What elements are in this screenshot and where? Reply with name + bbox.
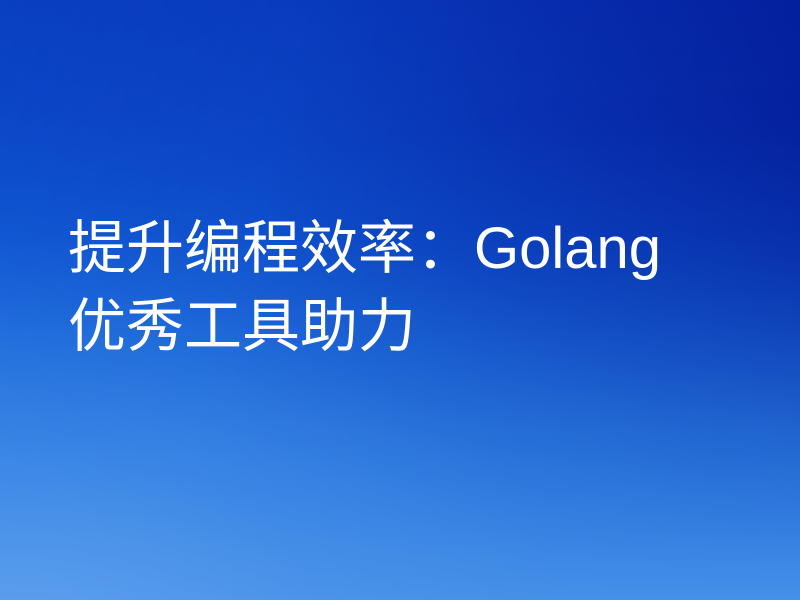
page-title: 提升编程效率：Golang 优秀工具助力 — [68, 210, 768, 366]
title-card-banner: 提升编程效率：Golang 优秀工具助力 — [0, 0, 800, 600]
page-title-line-2: 优秀工具助力 — [68, 288, 768, 366]
page-title-line-1: 提升编程效率：Golang — [68, 210, 768, 288]
